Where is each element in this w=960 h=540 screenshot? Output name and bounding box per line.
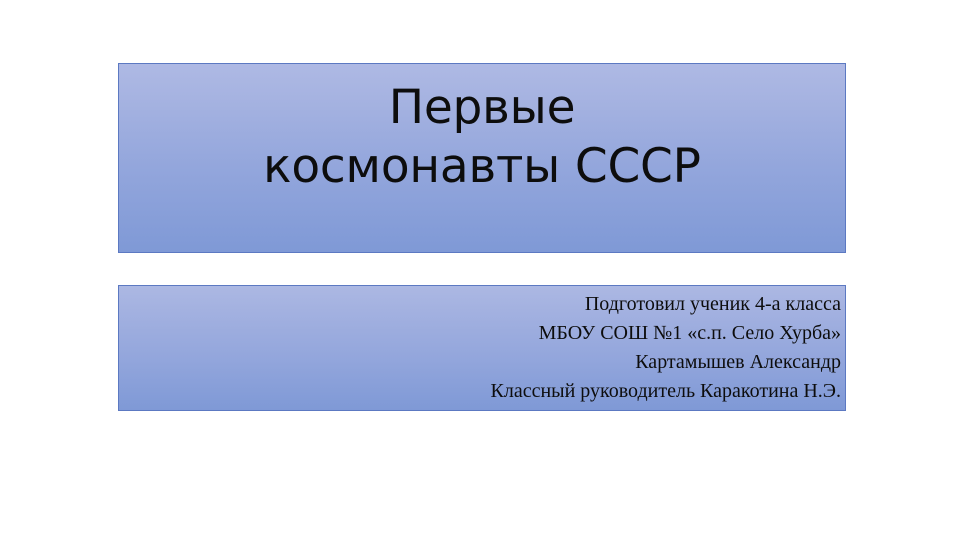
subtitle-placeholder[interactable]: Подготовил ученик 4-а класса МБОУ СОШ №1…	[118, 285, 846, 411]
subtitle-line-student-name: Картамышев Александр	[125, 348, 841, 377]
subtitle-line-author-role: Подготовил ученик 4-а класса	[125, 290, 841, 319]
title-placeholder[interactable]: Первые космонавты СССР	[118, 63, 846, 253]
presentation-slide: Первые космонавты СССР Подготовил ученик…	[0, 0, 960, 540]
subtitle-line-school: МБОУ СОШ №1 «с.п. Село Хурба»	[125, 319, 841, 348]
slide-title: Первые космонавты СССР	[263, 78, 701, 196]
subtitle-line-teacher: Классный руководитель Каракотина Н.Э.	[125, 377, 841, 406]
